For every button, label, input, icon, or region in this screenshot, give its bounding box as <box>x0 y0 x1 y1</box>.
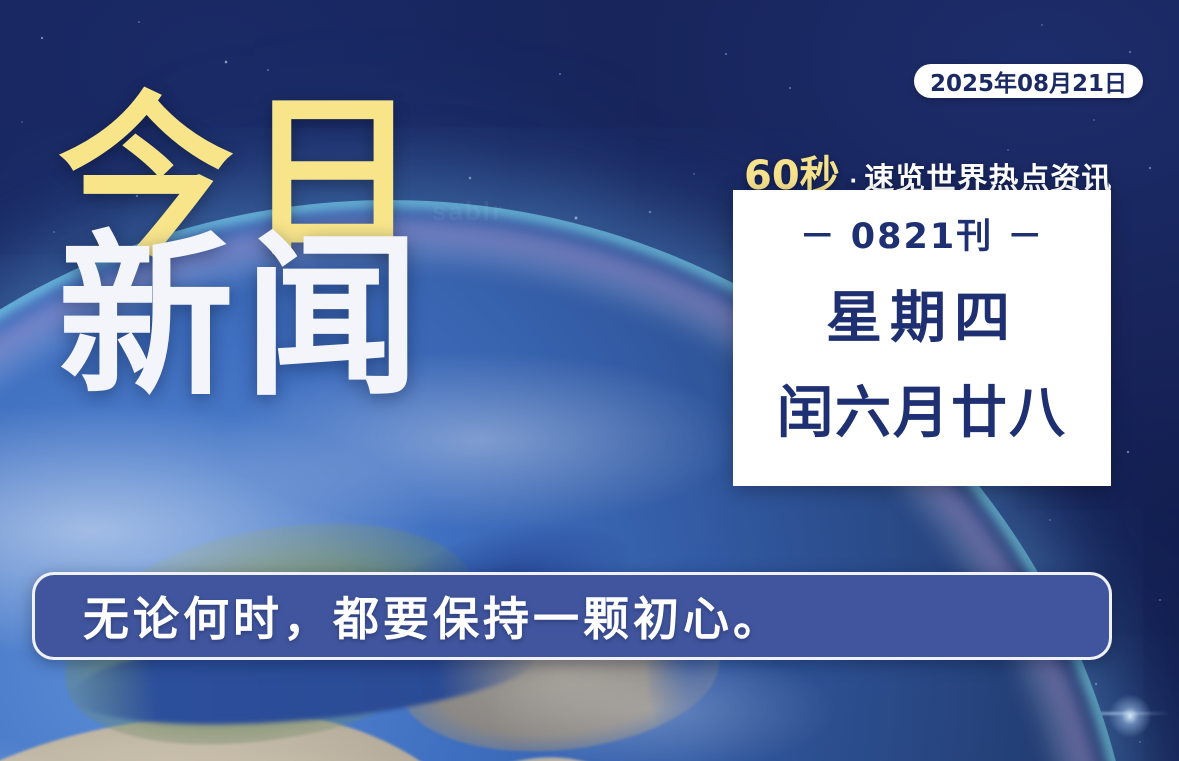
issue-dash-right: － <box>1007 208 1044 259</box>
title-line-news: 新闻 <box>58 235 430 400</box>
weekday-label: 星期四 <box>826 273 1018 354</box>
news-poster: sablr 今日 新闻 2025年08月21日 60秒 · 速览世界热点资讯 －… <box>0 0 1179 761</box>
quote-banner: 无论何时，都要保持一颗初心。 <box>32 572 1112 660</box>
quote-text: 无论何时，都要保持一颗初心。 <box>83 583 783 649</box>
issue-number: 0821刊 <box>851 208 993 259</box>
date-badge-label: 2025年08月21日 <box>930 64 1127 98</box>
issue-card: － 0821刊 － 星期四 闰六月廿八 <box>733 190 1111 486</box>
page-title: 今日 新闻 <box>58 96 430 401</box>
lunar-date-label: 闰六月廿八 <box>777 368 1067 449</box>
date-badge: 2025年08月21日 <box>914 64 1143 98</box>
issue-dash-left: － <box>800 208 837 259</box>
issue-number-row: － 0821刊 － <box>800 208 1044 259</box>
watermark-text: sablr <box>432 196 504 227</box>
